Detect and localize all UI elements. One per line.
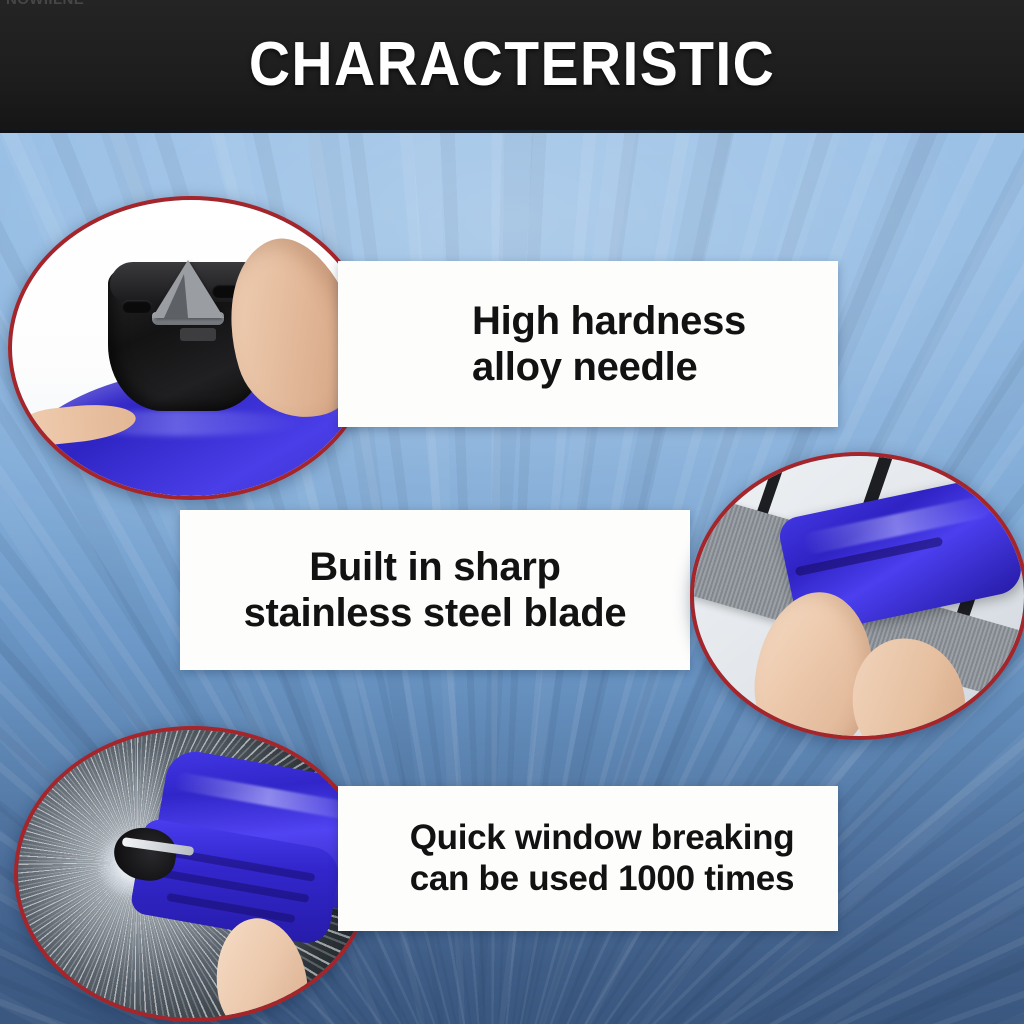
alloy-needle-icon	[152, 260, 224, 318]
header-band: NOWIILNE CHARACTERISTIC	[0, 0, 1024, 133]
header-watermark: NOWIILNE	[6, 0, 84, 8]
alloy-needle-shadow	[164, 274, 188, 318]
caption-text-blade: Built in sharp stainless steel blade	[244, 544, 627, 637]
cap-label	[180, 328, 216, 341]
cap-slot-left	[122, 300, 152, 313]
feature-photo-window	[14, 726, 372, 1022]
caption-plate-needle: High hardness alloy needle	[338, 261, 838, 427]
caption-plate-blade: Built in sharp stainless steel blade	[180, 510, 690, 670]
photo-blade-inner	[694, 456, 1024, 736]
photo-needle-inner	[12, 200, 370, 496]
photo-window-inner	[18, 730, 368, 1018]
caption-plate-window: Quick window breaking can be used 1000 t…	[338, 786, 838, 931]
caption-text-window: Quick window breaking can be used 1000 t…	[382, 818, 795, 899]
product-infographic: NOWIILNE CHARACTERISTIC High hardness al…	[0, 0, 1024, 1024]
page-title: CHARACTERISTIC	[41, 34, 983, 96]
feature-photo-blade	[690, 452, 1024, 740]
caption-text-needle: High hardness alloy needle	[430, 298, 746, 391]
feature-photo-needle	[8, 196, 374, 500]
header-underline	[0, 130, 1024, 133]
